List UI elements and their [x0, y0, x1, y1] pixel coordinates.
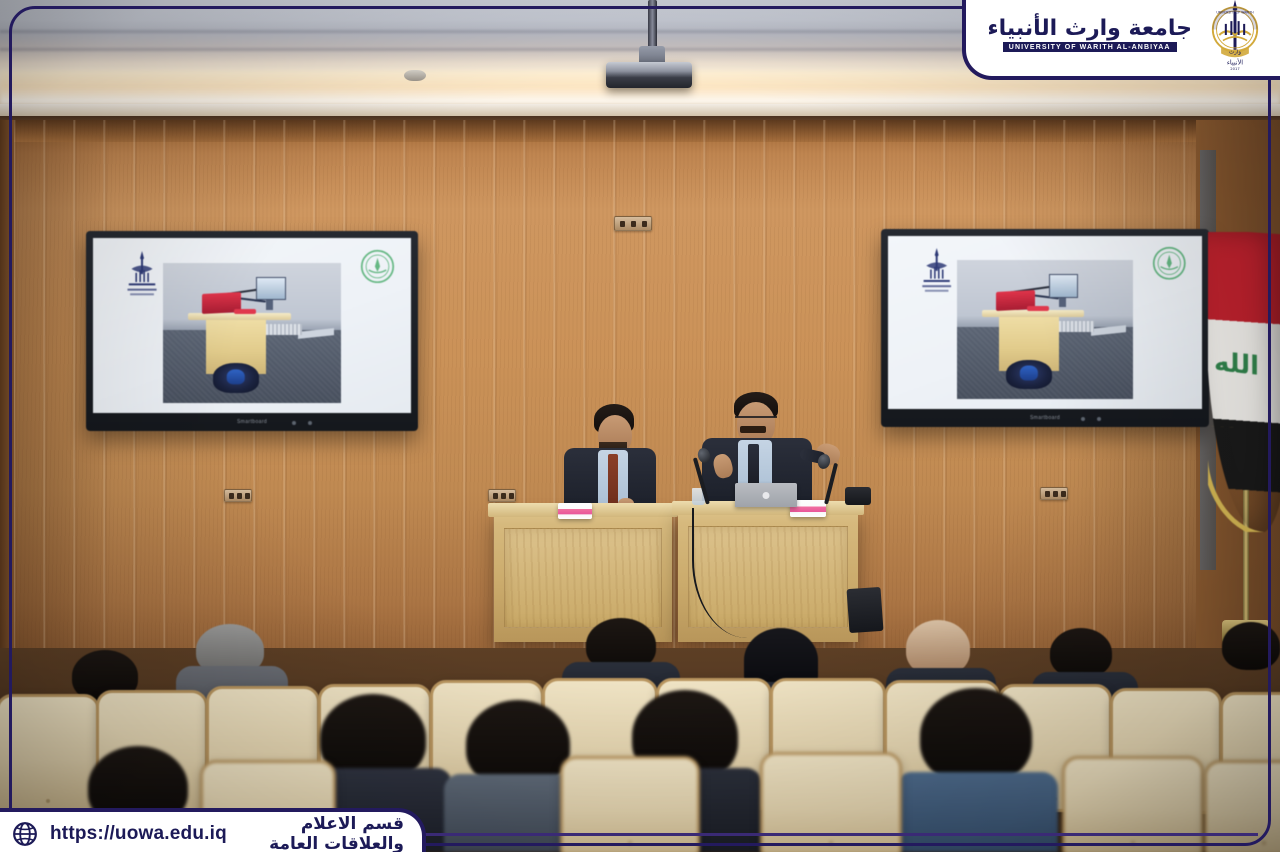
university-wordmark: جامعة وارث الأنبياء UNIVERSITY OF WARITH… — [987, 18, 1192, 52]
left-display-screen — [93, 238, 411, 413]
tissue-box-left — [558, 503, 592, 519]
globe-icon — [12, 821, 38, 847]
university-name-english: UNIVERSITY OF WARITH AL-ANBIYAA — [1003, 42, 1177, 52]
svg-text:UNIVERSITY OF WARITH: UNIVERSITY OF WARITH — [1216, 11, 1254, 15]
university-logo-navy — [910, 246, 963, 305]
auditorium-seat[interactable] — [1062, 756, 1204, 852]
slide-photo — [957, 260, 1133, 398]
wall-socket — [1040, 487, 1068, 500]
green-circular-seal — [1152, 246, 1187, 284]
slide-photo — [163, 263, 341, 403]
footer-branding-band: https://uowa.edu.iq قسم الاعلام والعلاقا… — [0, 808, 426, 852]
university-crest-icon: UNIVERSITY OF WARITH وارث الأنبياء 2017 — [1202, 0, 1268, 72]
speaker-left — [556, 404, 662, 514]
header-branding-band: جامعة وارث الأنبياء UNIVERSITY OF WARITH… — [962, 0, 1280, 80]
svg-text:وارث: وارث — [1229, 50, 1241, 56]
event-photograph: Smartboard — [0, 0, 1280, 852]
laptop — [735, 483, 797, 507]
website-url[interactable]: https://uowa.edu.iq — [50, 823, 227, 845]
department-name-arabic: قسم الاعلام والعلاقات العامة — [239, 814, 404, 852]
left-display: Smartboard — [86, 231, 418, 431]
podium-left — [494, 512, 672, 642]
svg-text:2017: 2017 — [1230, 67, 1240, 71]
university-logo-navy — [115, 249, 169, 309]
smoke-detector-icon — [404, 70, 426, 81]
audience-head — [920, 688, 1032, 784]
svg-text:الأنبياء: الأنبياء — [1227, 58, 1243, 67]
floor-bag — [847, 587, 884, 633]
auditorium-seat[interactable] — [560, 756, 700, 852]
camera — [845, 487, 871, 505]
wall-socket — [224, 489, 252, 502]
audience-head — [1050, 628, 1112, 678]
iraqi-flag: الله — [1208, 232, 1280, 532]
right-display: Smartboard — [881, 229, 1209, 427]
green-circular-seal — [360, 249, 395, 288]
wall-socket — [488, 489, 516, 502]
audience-body — [896, 772, 1058, 852]
university-name-arabic: جامعة وارث الأنبياء — [987, 18, 1192, 40]
auditorium-seat[interactable] — [0, 694, 100, 814]
display-brand-label: Smartboard — [1030, 415, 1060, 421]
screenshot-root: Smartboard — [0, 0, 1280, 852]
ceiling-projector-icon — [606, 62, 692, 88]
speaker-left-tie — [608, 454, 618, 510]
display-brand-label: Smartboard — [237, 419, 267, 425]
right-display-screen — [888, 236, 1202, 409]
audience-head — [1222, 622, 1280, 670]
footer-rule — [420, 833, 1258, 836]
auditorium-seat[interactable] — [760, 752, 902, 852]
speaker-right-glasses — [735, 416, 777, 423]
flag-script: الله — [1214, 347, 1270, 393]
auditorium-seat[interactable] — [1204, 760, 1280, 852]
wall-socket — [614, 216, 652, 231]
projector-mount-pole — [648, 0, 657, 52]
